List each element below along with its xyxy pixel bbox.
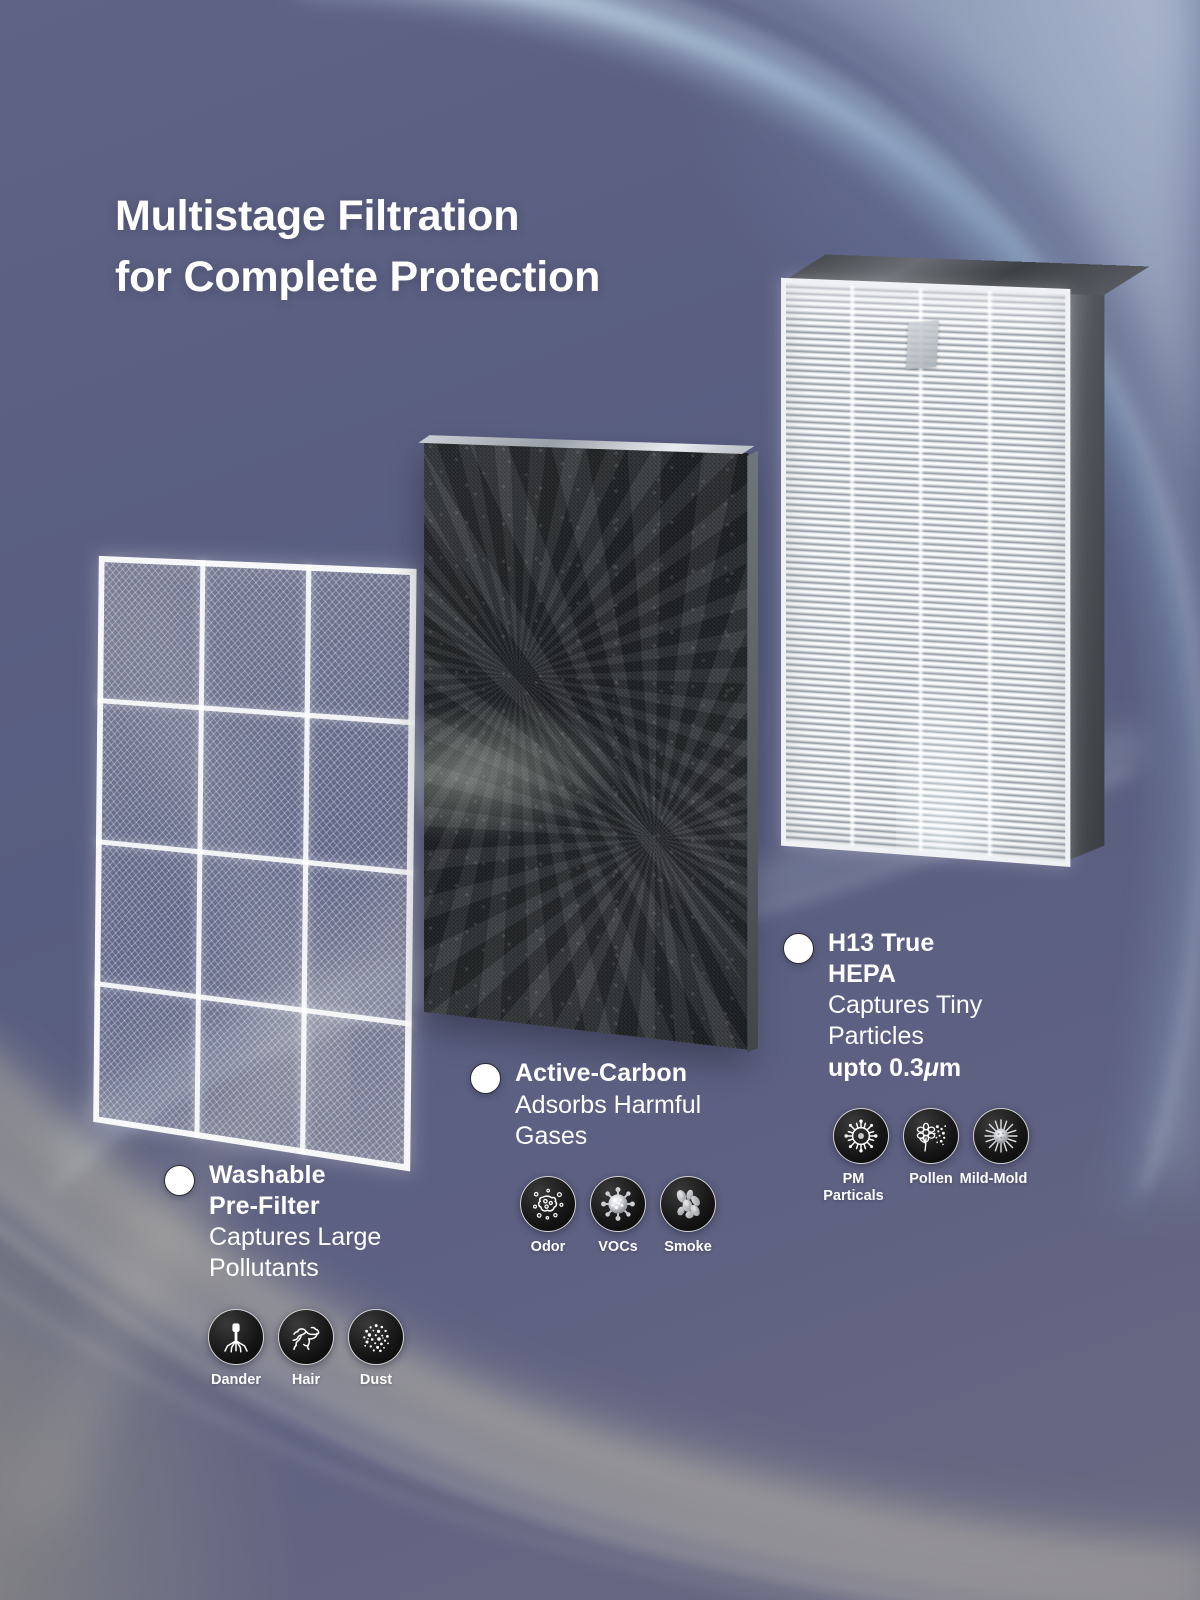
icon-cell-pollen: Pollen (903, 1108, 959, 1205)
carbon-side-edge (747, 451, 758, 1053)
icon-cell-odor: Odor (520, 1176, 576, 1256)
icon-cell-smoke: Smoke (660, 1176, 716, 1256)
icon-label: VOCs (598, 1239, 638, 1256)
dander-virus-icon (208, 1309, 264, 1365)
icon-label: Mild-Mold (951, 1171, 1037, 1188)
dust-particles-icon (348, 1309, 404, 1365)
emphasis-mu-symbol: μ (924, 1054, 939, 1082)
poster-title: Multistage Filtration for Complete Prote… (115, 186, 600, 308)
callout-h13-true-hepa: H13 True HEPA Captures Tiny Particles up… (783, 928, 1029, 1205)
callout-subtitle: Captures Large Pollutants (209, 1222, 381, 1285)
callout-bullet-icon (783, 933, 814, 964)
icon-label: Hair (292, 1372, 320, 1389)
icon-cell-pm-particals: PM Particals (833, 1108, 889, 1205)
active-carbon-panel-image (424, 442, 748, 1050)
icon-label: PM Particals (811, 1171, 897, 1205)
icon-cell-dust: Dust (348, 1309, 404, 1389)
mold-spore-icon (973, 1108, 1029, 1164)
pet-hair-icon (278, 1309, 334, 1365)
callout-emphasis: upto 0.3μm (828, 1053, 982, 1084)
callout-subtitle: Captures Tiny Particles (828, 990, 982, 1053)
icon-label: Dander (211, 1372, 261, 1389)
pre-filter-icon-row: Dander (208, 1309, 404, 1389)
callout-bullet-icon (164, 1165, 195, 1196)
emphasis-suffix: m (939, 1054, 961, 1082)
icon-cell-hair: Hair (278, 1309, 334, 1389)
icon-label: Dust (360, 1372, 392, 1389)
icon-cell-vocs: VOCs (590, 1176, 646, 1256)
callout-subtitle: Adsorbs Harmful Gases (515, 1090, 701, 1153)
icon-cell-mild-mold: Mild-Mold (973, 1108, 1029, 1205)
callout-title: H13 True HEPA (828, 928, 982, 989)
carbon-light-streak (403, 690, 632, 845)
hepa-panel-image (786, 283, 1065, 862)
icon-label: Smoke (664, 1239, 712, 1256)
pre-filter-mesh (93, 556, 416, 1172)
callout-title: Washable Pre-Filter (209, 1160, 381, 1221)
icon-label: Pollen (909, 1171, 953, 1188)
emphasis-prefix: upto 0.3 (828, 1054, 924, 1082)
pre-filter-panel-image (93, 556, 416, 1172)
callout-title: Active-Carbon (515, 1058, 701, 1089)
icon-label: Odor (531, 1239, 566, 1256)
odor-molecule-icon (520, 1176, 576, 1232)
callout-active-carbon: Active-Carbon Adsorbs Harmful Gases (470, 1058, 716, 1256)
voc-virus-icon (590, 1176, 646, 1232)
pm-virus-icon (833, 1108, 889, 1164)
callout-bullet-icon (470, 1063, 501, 1094)
hepa-icon-row: PM Particals (833, 1108, 1029, 1205)
hepa-outer-frame (781, 278, 1070, 867)
pollen-flower-icon (903, 1108, 959, 1164)
icon-cell-dander: Dander (208, 1309, 264, 1389)
smoke-puff-icon (660, 1176, 716, 1232)
carbon-icon-row: Odor (520, 1176, 716, 1256)
callout-washable-pre-filter: Washable Pre-Filter Captures Large Pollu… (164, 1160, 404, 1389)
hepa-side-face (1065, 277, 1104, 862)
poster-canvas: Multistage Filtration for Complete Prote… (0, 0, 1200, 1600)
